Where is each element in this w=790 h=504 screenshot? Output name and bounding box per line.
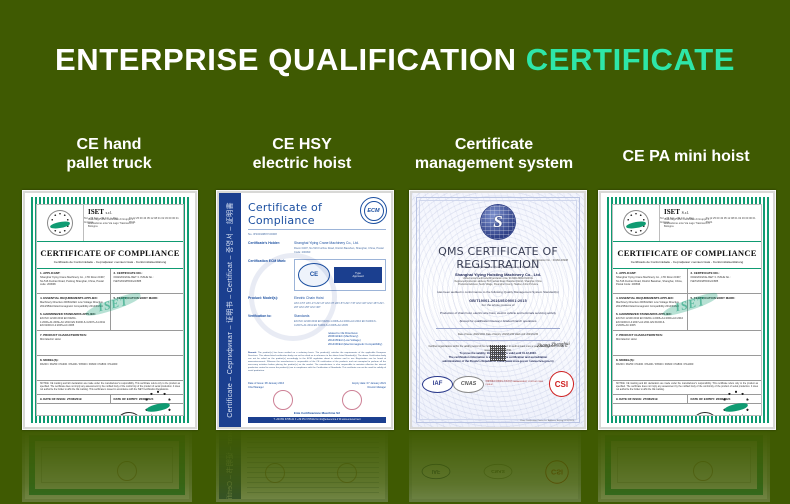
row-value: PA200 / PA250 / PA300 / PA400 / PA500 / … <box>40 363 180 367</box>
field-key: Certification ECM Mark: <box>248 259 294 291</box>
cnas-badge-icon: CNAS <box>453 376 484 393</box>
certificate-dates-row: 9. DATE OF ISSUE: 27/06/2019 DATE OF EXP… <box>613 394 761 404</box>
row-key: 8. MODEL(S): <box>40 358 180 362</box>
expiry-date-label: DATE OF EXPIRY: <box>691 397 716 401</box>
scope-text-2: (Except for qualification license) / Gra… <box>426 319 570 324</box>
remark-label: Remark: <box>248 352 257 354</box>
caption-2-line1: CE HSY <box>216 135 388 154</box>
organization-address-2: Production/address: Suofu Village, Shuan… <box>426 284 570 287</box>
field-row: Verification to: Standards EN ISO 12100:… <box>248 314 386 347</box>
certificate-row: 8. MODEL(S): PA200 / PA250 / PA300 / PA4… <box>613 356 761 381</box>
certificate-header: ISET S.r.l. Viale degli Uffici Certifica… <box>613 205 761 242</box>
contact-bar: T +39 051 6705141 F +39 051 6705142 E in… <box>248 417 386 423</box>
row-value-2: 0042/2019/CE-ISET 3. ISSUE No.: ISET/201… <box>691 276 759 283</box>
certificate-image-4[interactable]: ISET S.r.l. Viale degli Uffici Certifica… <box>598 190 776 430</box>
ecm-certificate: Certificate – Сертификат – 证明书 – Certifi… <box>219 193 391 427</box>
row-value: Shanghai Yiying Crane Machinery Co., LTD… <box>616 276 684 287</box>
certificate-header: ISET s.r.l. Viale degli Uffici Certifica… <box>37 205 183 242</box>
reflection-4 <box>598 428 770 502</box>
expiry-date-value: 26/06/2024 <box>716 397 730 401</box>
row-key: 4. ESSENTIAL REQUIREMENTS APPLIED: <box>616 296 684 300</box>
certificate-row: 1. APPLICANT: Shanghai Yiying Crane Mach… <box>613 269 761 294</box>
row-value: EN ISO 12100:2010 EN 60204-1:2006+A1:200… <box>40 317 107 328</box>
certificate-subtitle: Certificado de Conformidade - Сертификат… <box>37 260 183 269</box>
certificate-image-1[interactable]: ISET s.r.l. Viale degli Uffici Certifica… <box>22 190 198 430</box>
standards-list: EN ISO 12100:2010 EN 60204-1:2006+A1:200… <box>294 320 386 327</box>
row-value: Machinery Directive 2006/42/EC Low Volta… <box>40 301 107 308</box>
certificate-title: CERTIFICATE OF COMPLIANCE <box>37 242 183 260</box>
signatory-right: Director Manager <box>368 386 386 389</box>
poster-canvas: ENTERPRISE QUALIFICATION CERTIFICATE CE … <box>0 0 790 504</box>
certificate-number: No. IP1601080YC0008 <box>248 232 386 236</box>
reflection-strip-text: Certificate – Сертификат – 证明书 – Certifi… <box>225 428 235 502</box>
signature-area: CERTIFICATION MANAGER ISET S.r.l. <box>613 404 761 416</box>
certificate-caption-1: CE hand pallet truck <box>26 135 192 173</box>
certificate-footer: Date of Issue: 08 January 2016 Expiry da… <box>248 382 386 423</box>
row-key: 7. PRODUCT CHARACTERISTICS: <box>40 333 180 337</box>
seal-stamp-icon <box>273 390 293 410</box>
caption-4-line1: CE PA mini hoist <box>600 147 772 166</box>
row-key: 7. PRODUCT CHARACTERISTICS: <box>616 333 758 337</box>
field-key: Product: Model(s): <box>248 296 294 309</box>
ce-mark-icon: CE <box>298 263 330 287</box>
certificate-caption-2: CE HSY electric hoist <box>216 135 388 173</box>
certificate-row: 7. PRODUCT CHARACTERISTICS: Mini Electri… <box>613 331 761 356</box>
strip-text: Certificate – Сертификат – 证明书 – Certifi… <box>225 202 235 418</box>
field-value: Standards <box>294 314 309 318</box>
expiry-date-value: 26/06/2024 <box>139 397 153 401</box>
cnas-label: CNAS <box>461 381 476 387</box>
issue-date-value: 27/06/2019 <box>643 397 657 401</box>
expiry-date: Expiry date: 07 January 2021 <box>352 382 386 385</box>
qms-certificate: S QMS CERTIFICATE OF REGISTRATION Regist… <box>412 193 584 427</box>
issuer-contacts-left: Tel: +39 Fax: +39 C.F. n. Reg. Imprese <box>84 217 124 224</box>
certificate-dates-row: 9. DATE OF ISSUE: 27/06/2019 DATE OF EXP… <box>37 394 183 404</box>
ecm-logo-icon: ECM <box>360 197 387 224</box>
field-row: Certificate's Holder: Shanghai Yiying Cr… <box>248 241 386 254</box>
row-key-2: 5. CERTIFICATION BODY MARK: <box>691 296 759 300</box>
certificate-image-3[interactable]: S QMS CERTIFICATE OF REGISTRATION Regist… <box>409 190 587 430</box>
page-title: ENTERPRISE QUALIFICATION CERTIFICATE <box>0 44 790 75</box>
csi-badge-icon: CSI <box>549 371 574 397</box>
accreditation-badges: IAF CNAS 中国合格评定国家认可委员会 MANAGEMENT SYSTEM… <box>422 371 574 397</box>
reflection-csi: CSI <box>551 468 563 476</box>
field-row: Certification ECM Mark: CE TypeApproved <box>248 259 386 291</box>
signature-scribble-icon <box>642 414 690 416</box>
official-stamp-icon: ISET S.r.l. <box>691 412 719 416</box>
caption-1-line2: pallet truck <box>26 154 192 173</box>
scope-label: For the whole process of <box>426 303 570 309</box>
field-row: Product: Model(s): Electric Chain Hoist … <box>248 296 386 309</box>
brand-name: ISET <box>88 208 104 216</box>
csi-label: CSI <box>555 380 568 389</box>
reflection-3: IAF CNAS CSI <box>409 428 581 502</box>
field-subvalue: Room D407, No.516 Fuzhou Road, District … <box>294 247 386 254</box>
row-value-2: 0042/2019/CE-ISET 3. ISSUE No.: ISET/201… <box>114 276 181 283</box>
eu-star-logo-icon <box>613 205 660 241</box>
reflection-iaf: IAF <box>432 469 441 474</box>
official-stamp-icon: ISET S.r.l. <box>115 412 143 416</box>
cnas-subtext: 中国合格评定国家认可委员会 MANAGEMENT SYSTEM CNAS C10… <box>485 381 549 387</box>
iset-certificate-2: ISET S.r.l. Viale degli Uffici Certifica… <box>601 193 773 427</box>
certificate-subtitle: Certificado de Conformidade - Сертификат… <box>613 260 761 269</box>
directive-item: 2014/30/EU (Electromagnetic Compatibilit… <box>328 343 386 347</box>
certificate-notice: NOTICE: CE marking and EC declaration ar… <box>613 381 761 394</box>
caption-3-line2: management system <box>398 154 590 173</box>
row-value: EN ISO 12100:2010 EN 60204-1:2006+A1:200… <box>616 317 684 328</box>
issue-date-value: 27/06/2019 <box>67 397 81 401</box>
certificate-dates: Date of Issue: 2020/12/01 Date of Expiry… <box>426 333 570 337</box>
row-key-2: 2. CERTIFICATE NO.: <box>114 271 181 275</box>
signatory-left: Chief Manager <box>248 386 264 389</box>
seal-stamp-icon <box>342 390 362 410</box>
row-key: 4. ESSENTIAL REQUIREMENTS APPLIED: <box>40 296 107 300</box>
certificate-caption-3: Certificate management system <box>398 135 590 173</box>
certificate-row: 4. ESSENTIAL REQUIREMENTS APPLIED: Machi… <box>613 294 761 331</box>
brand-name: ISET <box>664 208 680 216</box>
row-key: 1. APPLICANT: <box>40 271 107 275</box>
iset-certificate-1: ISET s.r.l. Viale degli Uffici Certifica… <box>25 193 195 427</box>
caption-3-line1: Certificate <box>398 135 590 154</box>
issuer-contacts-right: 01 12 25 00 43 05 12 08 01 02 33 00 00 0… <box>129 217 180 224</box>
multilingual-side-strip: Certificate – Сертификат – 证明书 – Certifi… <box>219 193 241 427</box>
row-key-2: 2. CERTIFICATE NO.: <box>691 271 759 275</box>
issuing-organization: Ente Certificazione Macchine Srl <box>248 411 386 415</box>
iaf-label: IAF <box>433 381 443 387</box>
issue-date: Date of Issue: 08 January 2016 <box>248 382 284 385</box>
field-subvalue: HSY-0.5T HSY-1T HSY-2T HSY-3T HSY-5T HSY… <box>294 302 386 309</box>
reflection-cnas: CNAS <box>491 469 505 474</box>
certificate-notice: NOTICE: CE marking and EC declaration ar… <box>37 381 183 394</box>
field-key: Certificate's Holder: <box>248 241 294 254</box>
ecm-logo-text: ECM <box>367 208 379 214</box>
row-value: Machinery Directive 2006/42/EC Low Volta… <box>616 301 684 308</box>
caption-1-line1: CE hand <box>26 135 192 154</box>
row-key: 6. HARMONIZED STANDARDS APPLIED: <box>40 312 107 316</box>
type-approval-box: TypeApproved <box>334 267 382 283</box>
row-key: 6. HARMONIZED STANDARDS APPLIED: <box>616 312 684 316</box>
certificate-row: 7. PRODUCT CHARACTERISTICS: Mini Electri… <box>37 331 183 356</box>
certificate-footer: China Certification Center Inc. Address:… <box>520 420 574 423</box>
row-value: Shanghai Yiying Crane Machinery Co., LTD… <box>40 276 107 287</box>
certificate-caption-4: CE PA mini hoist <box>600 147 772 166</box>
row-key: 8. MODEL(S): <box>616 358 758 362</box>
ce-mark-box: CE TypeApproved <box>294 259 386 291</box>
certificate-title: CERTIFICATE OF COMPLIANCE <box>613 242 761 260</box>
row-value: Mini Electric Hoist <box>40 338 180 342</box>
field-value: Electric Chain Hoist <box>294 296 324 300</box>
globe-logo-icon: S <box>481 205 515 239</box>
brand-suffix: S.r.l. <box>682 210 689 215</box>
certificate-row: 8. MODEL(S): PA200 / PA250 / PA300 / PA4… <box>37 356 183 381</box>
row-value: Mini Electric Hoist <box>616 338 758 342</box>
certificate-row: 1. APPLICANT: Shanghai Yiying Crane Mach… <box>37 269 183 294</box>
caption-2-line2: electric hoist <box>216 154 388 173</box>
field-value: Shanghai Yiying Crane Machinery Co., Ltd… <box>294 241 359 245</box>
issue-date-label: 9. DATE OF ISSUE: <box>40 397 66 401</box>
iaf-badge-icon: IAF <box>422 376 453 393</box>
signature-scribble-icon <box>66 414 114 416</box>
remark-text: The product(s) has been verified on a vo… <box>248 352 386 372</box>
page-title-part2: CERTIFICATE <box>526 42 735 77</box>
eu-star-logo-icon <box>37 205 84 241</box>
page-title-part1: ENTERPRISE QUALIFICATION <box>55 42 517 77</box>
issue-date-label: 9. DATE OF ISSUE: <box>616 397 642 401</box>
issuer-contacts-left: Tel: +39 Fax: +39 C.F. n. Reg. Imprese <box>660 217 701 224</box>
certificate-image-2[interactable]: Certificate – Сертификат – 证明书 – Certifi… <box>216 190 394 430</box>
qr-code-icon <box>490 345 506 361</box>
row-key-2: 5. CERTIFICATION BODY MARK: <box>114 296 181 300</box>
scope-text: Production of chain hoist, electric wire… <box>426 311 570 316</box>
row-value: PA200 / PA250 / PA300 / PA400 / PA500 / … <box>616 363 758 367</box>
audited-line: Has been audited in conformance to the f… <box>426 290 570 296</box>
field-key: Verification to: <box>248 314 294 347</box>
reflection-1 <box>22 428 192 502</box>
registration-number: Registration No. : 00182-00908 <box>532 259 568 262</box>
certificate-row: 4. ESSENTIAL REQUIREMENTS APPLIED: Machi… <box>37 294 183 331</box>
reflection-2: Certificate – Сертификат – 证明书 – Certifi… <box>216 428 388 502</box>
row-key: 1. APPLICANT: <box>616 271 684 275</box>
organization-name: Shanghai Yiying Hoisting Machinery Co., … <box>426 271 570 278</box>
expiry-date-label: DATE OF EXPIRY: <box>114 397 139 401</box>
certificate-remark: Remark: The product(s) has been verified… <box>248 352 386 373</box>
signature-area: CERTIFICATION MANAGER ISET S.r.l. <box>37 404 183 416</box>
brand-suffix: s.r.l. <box>106 210 113 215</box>
issuer-contacts-right: 01 12 25 00 43 05 12 08 01 02 33 00 00 0… <box>706 217 758 224</box>
